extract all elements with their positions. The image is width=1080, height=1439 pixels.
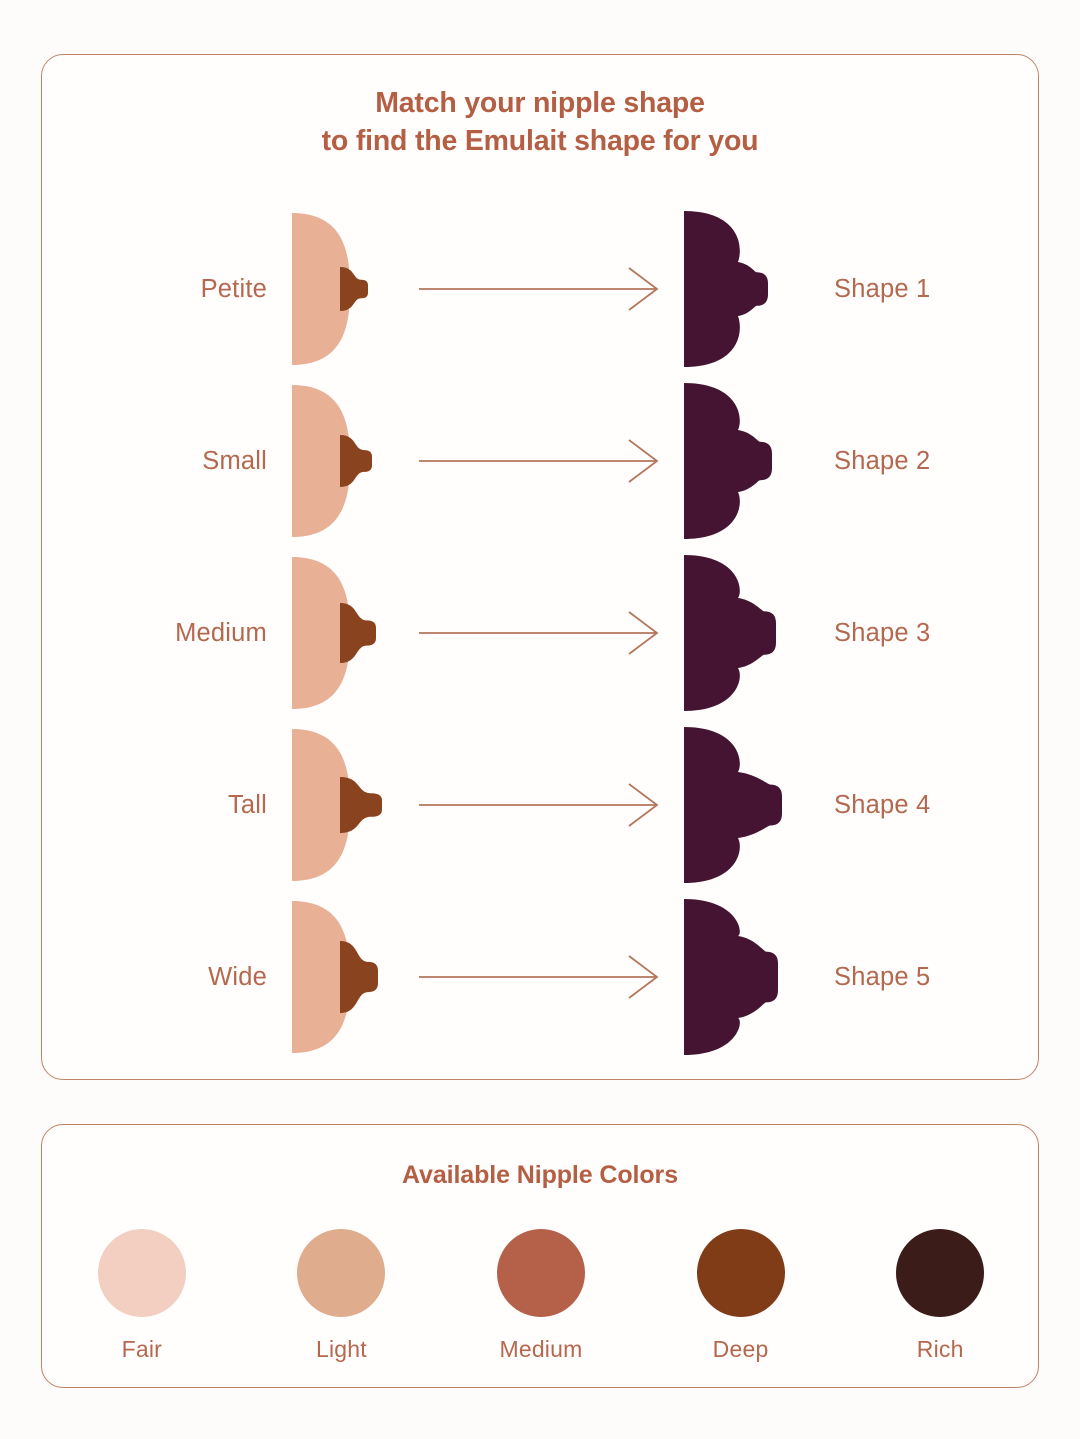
shape-row-list: PetiteShape 1SmallShape 2MediumShape 3Ta…: [42, 203, 1040, 1063]
emulait-shape-label: Shape 1: [792, 275, 1040, 304]
available-colors-title: Available Nipple Colors: [42, 1161, 1038, 1190]
color-swatch-label: Fair: [122, 1336, 162, 1363]
arrow-right-icon: [419, 610, 659, 656]
breast-petite-icon: [290, 203, 386, 375]
infographic-page: Match your nipple shape to find the Emul…: [0, 0, 1080, 1439]
match-arrow: [396, 954, 682, 1000]
arrow-right-icon: [419, 266, 659, 312]
arrow-right-icon: [419, 782, 659, 828]
color-swatch-label: Rich: [917, 1336, 964, 1363]
shape-row[interactable]: PetiteShape 1: [42, 203, 1040, 375]
color-swatch-label: Deep: [713, 1336, 769, 1363]
color-swatch-label: Medium: [499, 1336, 582, 1363]
page-title-line-2: to find the Emulait shape for you: [42, 123, 1038, 161]
color-swatch-list: FairLightMediumDeepRich: [42, 1229, 1040, 1363]
match-arrow: [396, 610, 682, 656]
arrow-right-icon: [419, 954, 659, 1000]
breast-shape-illustration: [290, 547, 396, 719]
emulait-shape-label: Shape 2: [792, 447, 1040, 476]
breast-shape-illustration: [290, 203, 396, 375]
color-swatch-dot[interactable]: [98, 1229, 186, 1317]
available-colors-card: Available Nipple Colors FairLightMediumD…: [41, 1124, 1039, 1388]
page-title: Match your nipple shape to find the Emul…: [42, 85, 1038, 161]
shape-match-card: Match your nipple shape to find the Emul…: [41, 54, 1039, 1080]
nipple-size-label: Wide: [42, 963, 290, 992]
shape-row[interactable]: TallShape 4: [42, 719, 1040, 891]
color-swatch-item[interactable]: Rich: [860, 1229, 1020, 1363]
nipple-size-label: Petite: [42, 275, 290, 304]
color-swatch-dot[interactable]: [697, 1229, 785, 1317]
color-swatch-dot[interactable]: [896, 1229, 984, 1317]
color-swatch-item[interactable]: Medium: [461, 1229, 621, 1363]
breast-shape-illustration: [290, 375, 396, 547]
teat-shape-4-icon: [682, 719, 786, 891]
breast-shape-illustration: [290, 719, 396, 891]
bottle-teat-illustration: [682, 203, 792, 375]
teat-shape-2-icon: [682, 375, 786, 547]
shape-row[interactable]: MediumShape 3: [42, 547, 1040, 719]
bottle-teat-illustration: [682, 891, 792, 1063]
nipple-size-label: Medium: [42, 619, 290, 648]
color-swatch-item[interactable]: Fair: [62, 1229, 222, 1363]
color-swatch-item[interactable]: Light: [261, 1229, 421, 1363]
breast-wide-icon: [290, 891, 386, 1063]
color-swatch-dot[interactable]: [497, 1229, 585, 1317]
shape-row[interactable]: SmallShape 2: [42, 375, 1040, 547]
arrow-right-icon: [419, 438, 659, 484]
teat-shape-3-icon: [682, 547, 786, 719]
emulait-shape-label: Shape 5: [792, 963, 1040, 992]
color-swatch-item[interactable]: Deep: [661, 1229, 821, 1363]
teat-shape-5-icon: [682, 891, 786, 1063]
color-swatch-label: Light: [316, 1336, 367, 1363]
shape-row[interactable]: WideShape 5: [42, 891, 1040, 1063]
breast-tall-icon: [290, 719, 386, 891]
match-arrow: [396, 438, 682, 484]
teat-shape-1-icon: [682, 203, 786, 375]
emulait-shape-label: Shape 4: [792, 791, 1040, 820]
nipple-size-label: Small: [42, 447, 290, 476]
nipple-size-label: Tall: [42, 791, 290, 820]
match-arrow: [396, 266, 682, 312]
bottle-teat-illustration: [682, 547, 792, 719]
page-title-line-1: Match your nipple shape: [375, 87, 705, 119]
color-swatch-dot[interactable]: [297, 1229, 385, 1317]
bottle-teat-illustration: [682, 375, 792, 547]
breast-shape-illustration: [290, 891, 396, 1063]
emulait-shape-label: Shape 3: [792, 619, 1040, 648]
breast-small-icon: [290, 375, 386, 547]
bottle-teat-illustration: [682, 719, 792, 891]
match-arrow: [396, 782, 682, 828]
breast-medium-icon: [290, 547, 386, 719]
